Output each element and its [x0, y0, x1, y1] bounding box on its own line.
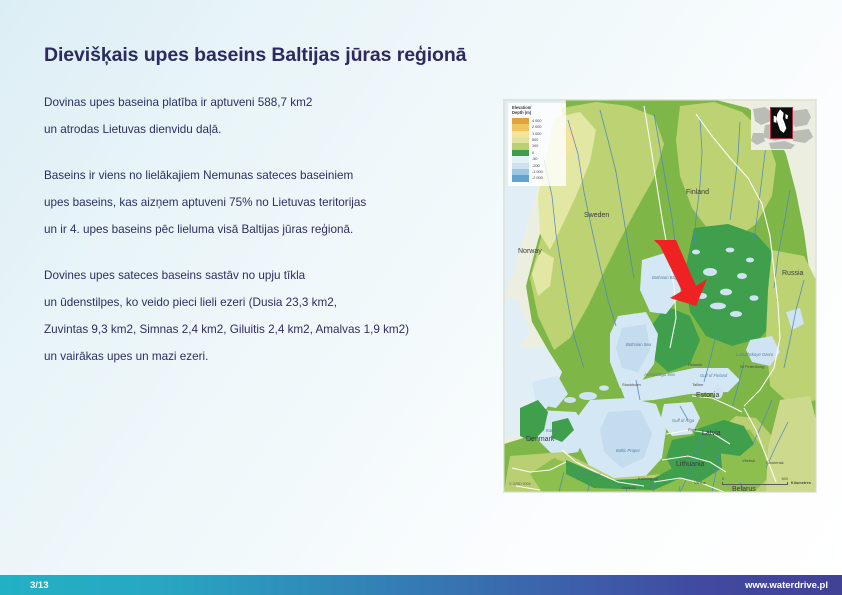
- scale-end-label: 500: [782, 477, 788, 481]
- map-scale-bar: 0 500 Kilometres: [722, 478, 811, 485]
- legend-entry-label: -2 000: [532, 176, 543, 180]
- scale-start-label: 0: [722, 477, 724, 481]
- scale-bar-rule: [722, 482, 788, 485]
- legend-entry-label: 500: [532, 138, 538, 142]
- legend-entry-label: 0: [532, 151, 534, 155]
- slide-body-text: Dovinas upes baseina platība ir aptuveni…: [44, 89, 484, 370]
- paragraph-3: Dovines upes sateces baseins sastāv no u…: [44, 262, 484, 370]
- slide-footer-bar: 3/13 www.waterdrive.pl: [0, 575, 842, 595]
- text-line: Baseins ir viens no lielākajiem Nemunas …: [44, 162, 484, 189]
- legend-entry-label: -50: [532, 157, 538, 161]
- text-line: un ir 4. upes baseins pēc lieluma visā B…: [44, 216, 484, 243]
- legend-title-line2: Depth (m): [512, 110, 531, 115]
- legend-entries: 4 0002 0001 0005001000-50-200-1 000-2 00…: [512, 118, 564, 182]
- text-line: un vairākas upes un mazi ezeri.: [44, 343, 484, 370]
- paragraph-2: Baseins ir viens no lielākajiem Nemunas …: [44, 162, 484, 243]
- text-line: un atrodas Lietuvas dienvidu daļā.: [44, 116, 484, 143]
- pointer-arrow-icon: [650, 238, 710, 308]
- slide-number: 3/13: [30, 580, 49, 591]
- text-line: un ūdenstilpes, ko veido pieci lieli eze…: [44, 289, 484, 316]
- footer-website-link[interactable]: www.waterdrive.pl: [745, 580, 828, 591]
- text-line: upes baseins, kas aizņem aptuveni 75% no…: [44, 189, 484, 216]
- paragraph-1: Dovinas upes baseina platība ir aptuveni…: [44, 89, 484, 143]
- legend-entry-label: 1 000: [532, 132, 542, 136]
- legend-title: Elevation/ Depth (m): [512, 106, 564, 116]
- legend-swatch: [512, 175, 529, 181]
- text-line: Zuvintas 9,3 km2, Simnas 2,4 km2, Giluit…: [44, 316, 484, 343]
- scale-bar-graphic: 0 500: [722, 478, 788, 485]
- text-line: Dovinas upes baseina platība ir aptuveni…: [44, 89, 484, 116]
- page-title: Dievišķais upes baseins Baltijas jūras r…: [44, 44, 466, 67]
- slide-canvas: Dievišķais upes baseins Baltijas jūras r…: [0, 0, 842, 595]
- legend-entry-label: 4 000: [532, 119, 542, 123]
- inset-highlight-box: [770, 107, 793, 139]
- map-elevation-legend: Elevation/ Depth (m) 4 0002 0001 0005001…: [508, 103, 566, 186]
- legend-entry-label: 100: [532, 144, 538, 148]
- legend-entry: -2 000: [512, 175, 564, 181]
- map-credit-text: © GRID 2004: [509, 482, 531, 486]
- scale-unit-label: Kilometres: [791, 480, 811, 486]
- inset-locator-map: [751, 103, 813, 150]
- text-line: Dovines upes sateces baseins sastāv no u…: [44, 262, 484, 289]
- baltic-region-map-image: Elevation/ Depth (m) 4 0002 0001 0005001…: [504, 100, 816, 492]
- legend-entry-label: 2 000: [532, 125, 542, 129]
- legend-entry-label: -200: [532, 164, 540, 168]
- legend-entry-label: -1 000: [532, 170, 543, 174]
- inset-baltic-shape: [771, 108, 790, 136]
